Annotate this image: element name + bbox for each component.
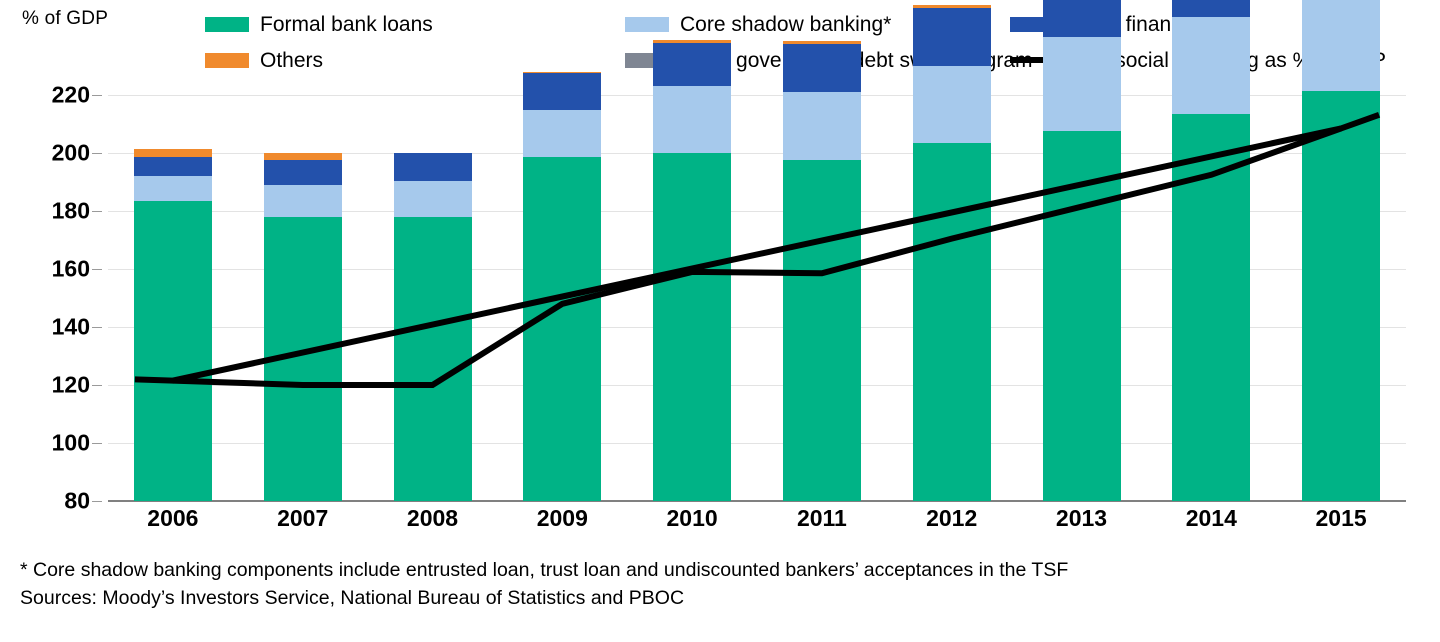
x-axis-tick-label: 2015	[1316, 505, 1367, 532]
bar-segment[interactable]	[653, 43, 731, 87]
legend-item-others[interactable]: Others	[205, 50, 625, 71]
x-axis: 2006200720082009201020112012201320142015	[108, 505, 1406, 545]
x-axis-tick-label: 2012	[926, 505, 977, 532]
chart-footnotes: * Core shadow banking components include…	[20, 557, 1068, 612]
y-axis-tick-mark	[92, 443, 102, 444]
y-axis-tick-mark	[92, 95, 102, 96]
legend-label-others: Others	[260, 50, 323, 71]
chart-root: % of GDP Formal bank loansCore shadow ba…	[0, 0, 1440, 642]
y-axis-tick-mark	[92, 327, 102, 328]
legend-item-formal-bank-loans[interactable]: Formal bank loans	[205, 14, 625, 35]
bar-segment[interactable]	[913, 8, 991, 66]
x-axis-tick-label: 2011	[797, 505, 847, 532]
y-axis-tick-mark	[92, 501, 102, 502]
x-axis-tick-label: 2007	[277, 505, 328, 532]
x-axis-tick-label: 2009	[537, 505, 588, 532]
y-axis-tick-label: 120	[52, 372, 90, 399]
plot-area	[108, 95, 1406, 501]
bar-segment[interactable]	[783, 41, 861, 44]
total-social-financing-line	[108, 95, 1406, 501]
legend-swatch-others	[205, 53, 249, 68]
y-axis-unit-label: % of GDP	[22, 8, 108, 30]
y-axis-tick-mark	[92, 211, 102, 212]
y-axis-tick-label: 100	[52, 430, 90, 457]
x-axis-tick-label: 2008	[407, 505, 458, 532]
y-axis-tick-label: 80	[64, 488, 90, 515]
legend-swatch-core-shadow-banking	[625, 17, 669, 32]
x-axis-tick-label: 2010	[667, 505, 718, 532]
total-social-financing-line-extensions	[135, 115, 1379, 381]
y-axis-tick-label: 160	[52, 256, 90, 283]
y-axis-tick-label: 200	[52, 140, 90, 167]
y-axis-tick-mark	[92, 385, 102, 386]
bar-segment[interactable]	[653, 40, 731, 43]
legend-label-core-shadow-banking: Core shadow banking*	[680, 14, 891, 35]
y-axis-tick-mark	[92, 269, 102, 270]
y-axis: 80100120140160180200220	[0, 95, 108, 501]
bar-segment[interactable]	[1043, 0, 1121, 37]
y-axis-tick-mark	[92, 153, 102, 154]
bar-segment[interactable]	[783, 44, 861, 92]
y-axis-tick-label: 220	[52, 82, 90, 109]
x-axis-tick-label: 2013	[1056, 505, 1107, 532]
y-axis-tick-label: 180	[52, 198, 90, 225]
y-axis-tick-label: 140	[52, 314, 90, 341]
bar-segment[interactable]	[913, 5, 991, 8]
bar-segment[interactable]	[1172, 0, 1250, 17]
bar-segment[interactable]	[523, 72, 601, 74]
bar-segment[interactable]	[1302, 0, 1380, 91]
x-axis-tick-label: 2006	[147, 505, 198, 532]
x-axis-tick-label: 2014	[1186, 505, 1237, 532]
footnote-core-shadow-banking: * Core shadow banking components include…	[20, 557, 1068, 585]
legend-label-formal-bank-loans: Formal bank loans	[260, 14, 433, 35]
footnote-sources: Sources: Moody’s Investors Service, Nati…	[20, 585, 1068, 613]
legend-swatch-formal-bank-loans	[205, 17, 249, 32]
